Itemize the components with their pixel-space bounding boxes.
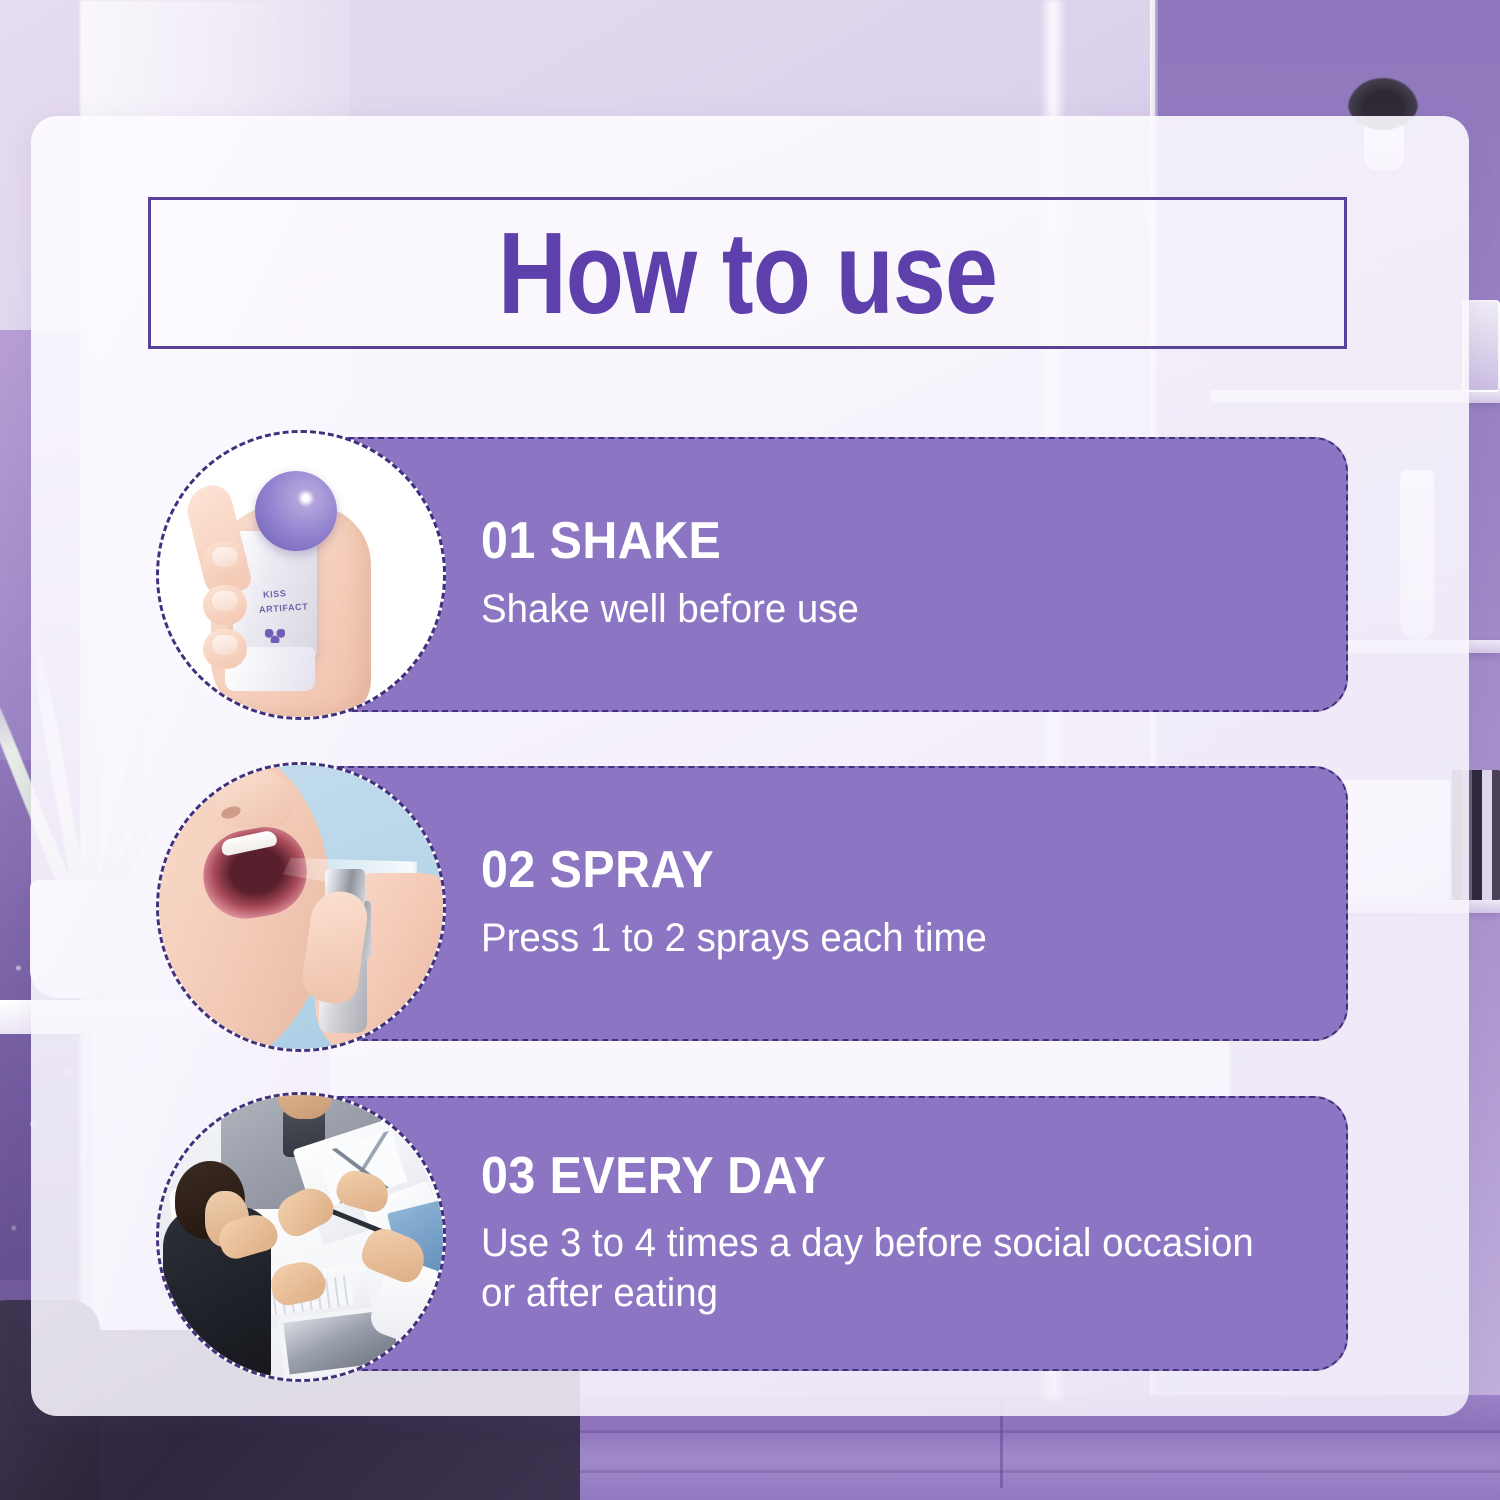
infographic-root: How to use 01 SHAKE Shake well before us…: [0, 0, 1500, 1500]
spray-bottle-cap: [255, 471, 337, 551]
step-1-text: 01 SHAKE Shake well before use: [481, 439, 1306, 710]
step-1-photo: KISS ARTIFACT: [156, 430, 446, 720]
step-3-description: Use 3 to 4 times a day before social occ…: [481, 1219, 1273, 1318]
fingernail: [212, 547, 238, 567]
step-1-description: Shake well before use: [481, 585, 1273, 635]
step-2-photo: [156, 762, 446, 1052]
step-3-title: 03 EVERY DAY: [481, 1149, 1248, 1204]
step-1-title: 01 SHAKE: [481, 514, 1248, 569]
step-2-title: 02 SPRAY: [481, 843, 1248, 898]
step-2-text: 02 SPRAY Press 1 to 2 sprays each time: [481, 768, 1306, 1039]
step-2-description: Press 1 to 2 sprays each time: [481, 914, 1273, 964]
step-3-photo: [156, 1092, 446, 1382]
fingernail: [212, 635, 238, 655]
bottle-logo-icon: [265, 629, 285, 643]
bottle-label-line1: KISS: [263, 588, 287, 600]
page-title: How to use: [256, 197, 1239, 349]
floor-line: [560, 1470, 1500, 1473]
fingernail: [212, 591, 238, 611]
floor-line: [560, 1430, 1500, 1433]
step-3-text: 03 EVERY DAY Use 3 to 4 times a day befo…: [481, 1098, 1306, 1369]
